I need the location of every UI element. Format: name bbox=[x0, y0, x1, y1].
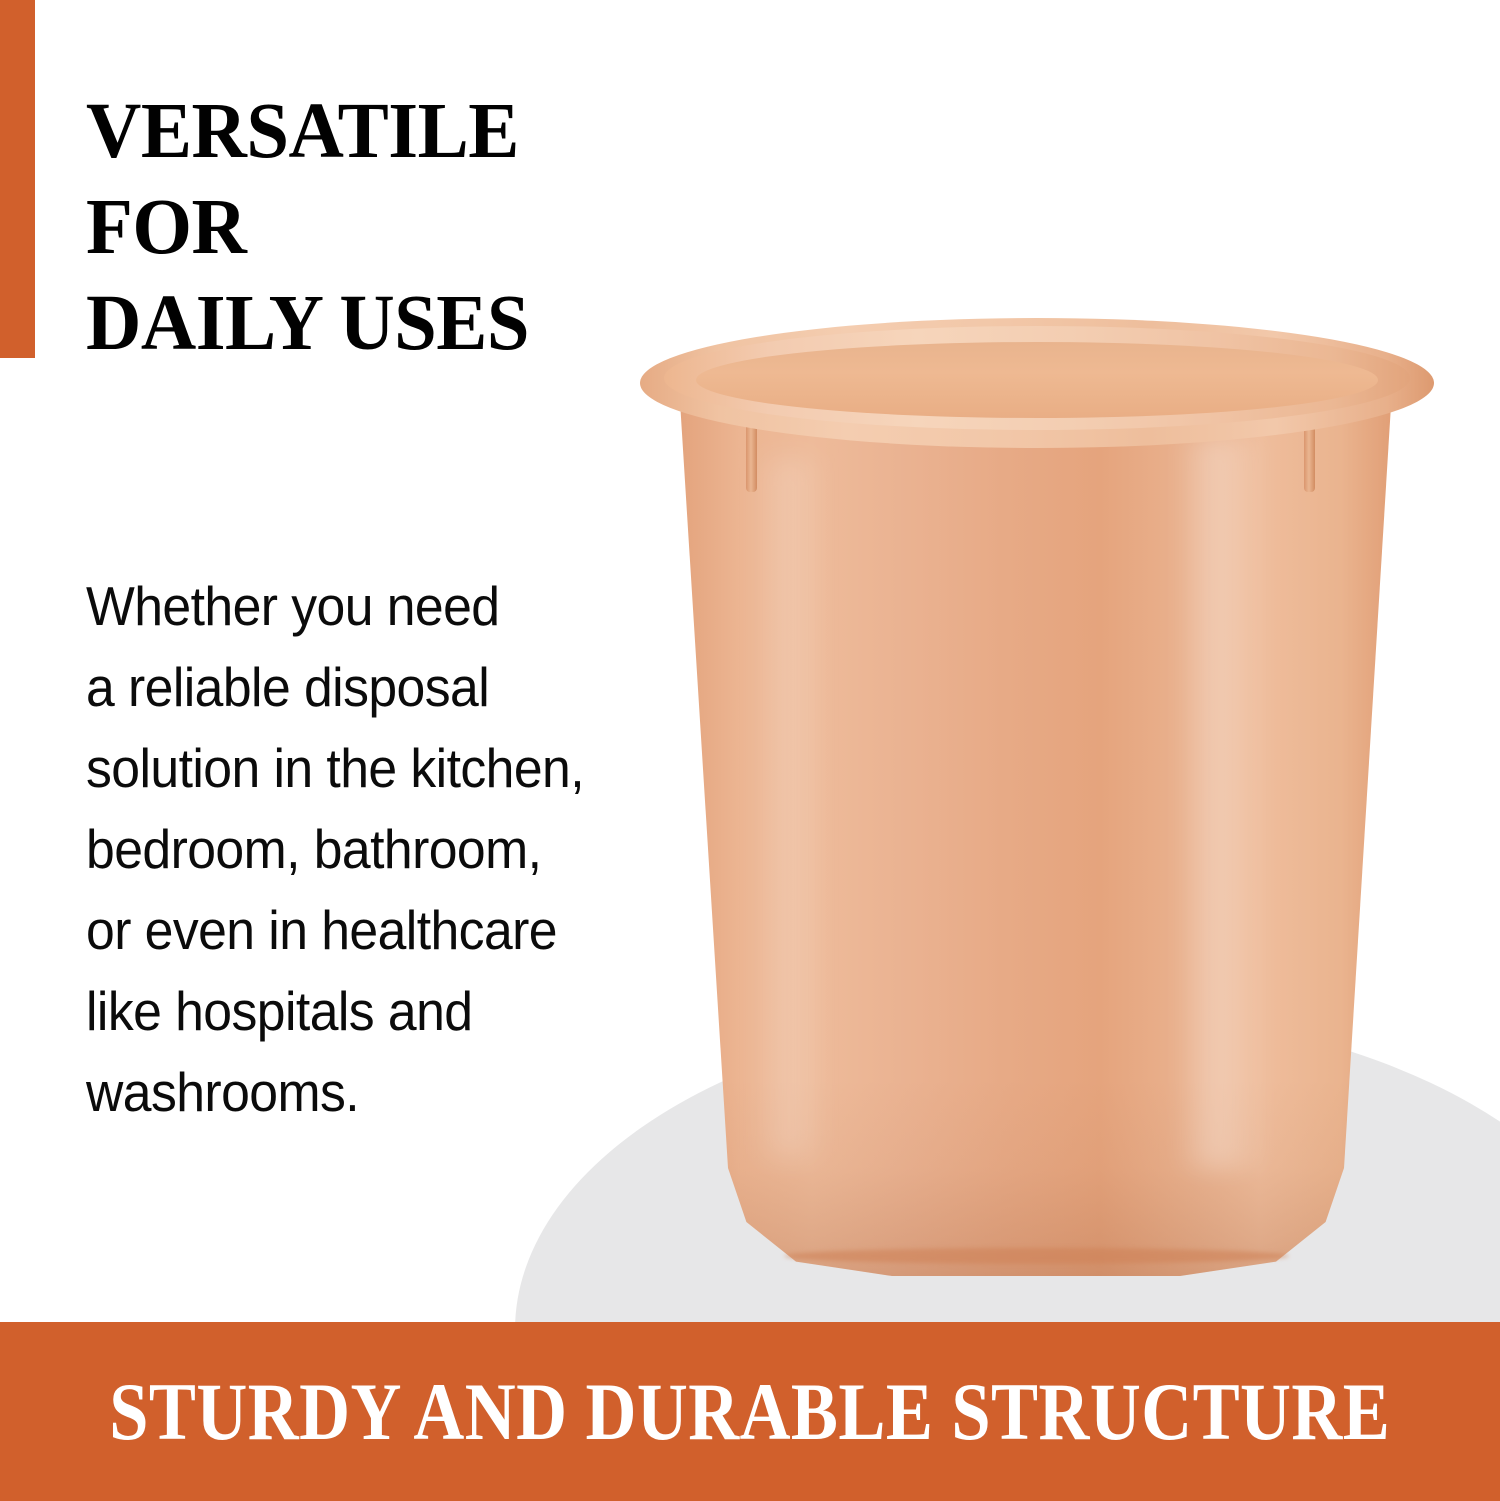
page-title: VERSATILE FOR DAILY USES bbox=[86, 84, 687, 372]
bin-base-edge bbox=[784, 1248, 1289, 1264]
description-line-2: a reliable disposal bbox=[86, 647, 669, 728]
headline-line-1: VERSATILE bbox=[86, 84, 687, 180]
headline-line-2: FOR bbox=[86, 180, 687, 276]
bottom-banner: STURDY AND DURABLE STRUCTURE bbox=[0, 1322, 1500, 1501]
left-accent-bar bbox=[0, 0, 35, 358]
headline-line-3: DAILY USES bbox=[86, 276, 687, 372]
bin-opening bbox=[696, 342, 1378, 418]
description-line-1: Whether you need bbox=[86, 566, 669, 647]
description-line-6: like hospitals and bbox=[86, 971, 669, 1052]
banner-headline: STURDY AND DURABLE STRUCTURE bbox=[110, 1365, 1391, 1459]
bin-bottom-shading bbox=[636, 376, 1436, 1276]
description-paragraph: Whether you need a reliable disposal sol… bbox=[86, 566, 669, 1133]
description-line-3: solution in the kitchen, bbox=[86, 728, 669, 809]
product-image-trash-bin bbox=[636, 318, 1436, 1268]
product-infographic-canvas: VERSATILE FOR DAILY USES Whether you nee… bbox=[0, 0, 1500, 1501]
description-line-7: washrooms. bbox=[86, 1052, 669, 1133]
description-line-4: bedroom, bathroom, bbox=[86, 809, 669, 890]
description-line-5: or even in healthcare bbox=[86, 890, 669, 971]
